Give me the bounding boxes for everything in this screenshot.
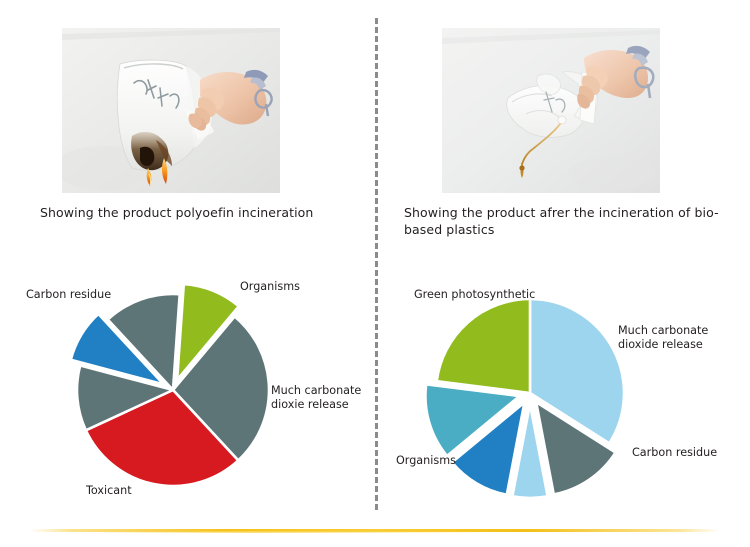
- pie-slices-left: [71, 284, 269, 486]
- pie-slice-label: Much carbonatedioxie release: [271, 384, 361, 411]
- photo-bio-based-after-incineration-art: [442, 28, 660, 193]
- accent-rule-highlight: [85, 531, 499, 533]
- pie-slice-label: Carbon residue: [632, 446, 717, 459]
- pie-slice-label: Organisms: [396, 454, 456, 467]
- caption-left-photo: Showing the product polyoefin incinerati…: [40, 204, 360, 221]
- pie-slice-label: Green photosynthetic: [414, 288, 535, 301]
- pie-chart-polyolefin-incineration: OrganismsMuch carbonatedioxie releaseTox…: [18, 268, 368, 503]
- caption-right-photo: Showing the product afrer the incinerati…: [404, 204, 734, 238]
- vertical-dashed-divider: [375, 18, 378, 510]
- pie-chart-bio-based-plastics: Green photosyntheticMuch carbonatedioxid…: [392, 268, 742, 503]
- pie-slice-label: Toxicant: [85, 484, 132, 497]
- pie-slice-label: Carbon residue: [26, 288, 111, 301]
- pie-slice: [437, 299, 530, 393]
- pie-chart-polyolefin-svg: OrganismsMuch carbonatedioxie releaseTox…: [18, 268, 368, 503]
- pie-slices-right: [425, 299, 624, 498]
- photo-bio-based-after-incineration: [442, 28, 660, 193]
- pie-chart-bio-based-svg: Green photosyntheticMuch carbonatedioxid…: [392, 268, 742, 503]
- photo-polyolefin-incineration-art: [62, 28, 280, 193]
- pie-slice-label: Much carbonatedioxide release: [618, 324, 708, 351]
- photo-polyolefin-incineration: [62, 28, 280, 193]
- bottom-accent-rule: [30, 528, 720, 533]
- pie-slice-label: Organisms: [240, 280, 300, 293]
